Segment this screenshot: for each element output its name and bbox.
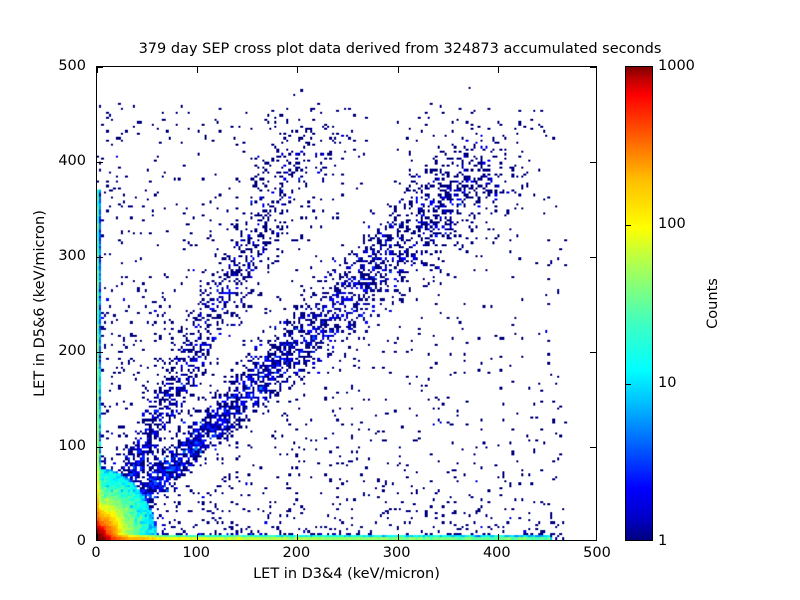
colorbar — [625, 66, 653, 541]
colorbar-tick-label-100: 100 — [658, 216, 686, 232]
colorbar-label: Counts — [705, 66, 725, 541]
y-tick-500 — [97, 67, 103, 68]
chart-title-line-1: 379 day SEP cross plot data derived from… — [0, 41, 800, 59]
y-tick-400 — [97, 162, 103, 163]
x-tick-label-300: 300 — [383, 545, 411, 561]
plot-area — [96, 66, 597, 541]
y-tick-100 — [590, 447, 596, 448]
x-axis-label: LET in D3&4 (keV/micron) — [96, 566, 597, 582]
x-tick-label-200: 200 — [283, 545, 311, 561]
x-tick-200 — [297, 67, 298, 73]
y-tick-100 — [97, 447, 103, 448]
colorbar-tick-label-10: 10 — [658, 375, 676, 391]
x-tick-400 — [498, 534, 499, 540]
x-tick-100 — [197, 534, 198, 540]
colorbar-tick-label-1: 1 — [658, 533, 667, 549]
colorbar-tick-label-1000: 1000 — [658, 58, 695, 74]
y-tick-200 — [590, 352, 596, 353]
scatter-density-canvas — [97, 67, 596, 540]
x-tick-300 — [398, 534, 399, 540]
x-tick-label-0: 0 — [91, 545, 100, 561]
x-tick-200 — [297, 534, 298, 540]
x-tick-0 — [97, 534, 98, 540]
x-tick-300 — [398, 67, 399, 73]
y-axis-label: LET in D5&6 (keV/micron) — [32, 66, 52, 541]
y-tick-300 — [590, 257, 596, 258]
x-tick-label-400: 400 — [483, 545, 511, 561]
y-tick-500 — [590, 67, 596, 68]
colorbar-tick-100 — [626, 225, 631, 226]
figure: 379 day SEP cross plot data derived from… — [0, 0, 800, 600]
y-tick-400 — [590, 162, 596, 163]
x-tick-label-100: 100 — [182, 545, 210, 561]
colorbar-tick-10 — [626, 384, 631, 385]
x-tick-400 — [498, 67, 499, 73]
y-tick-200 — [97, 352, 103, 353]
y-tick-300 — [97, 257, 103, 258]
x-tick-label-500: 500 — [583, 545, 611, 561]
x-tick-100 — [197, 67, 198, 73]
